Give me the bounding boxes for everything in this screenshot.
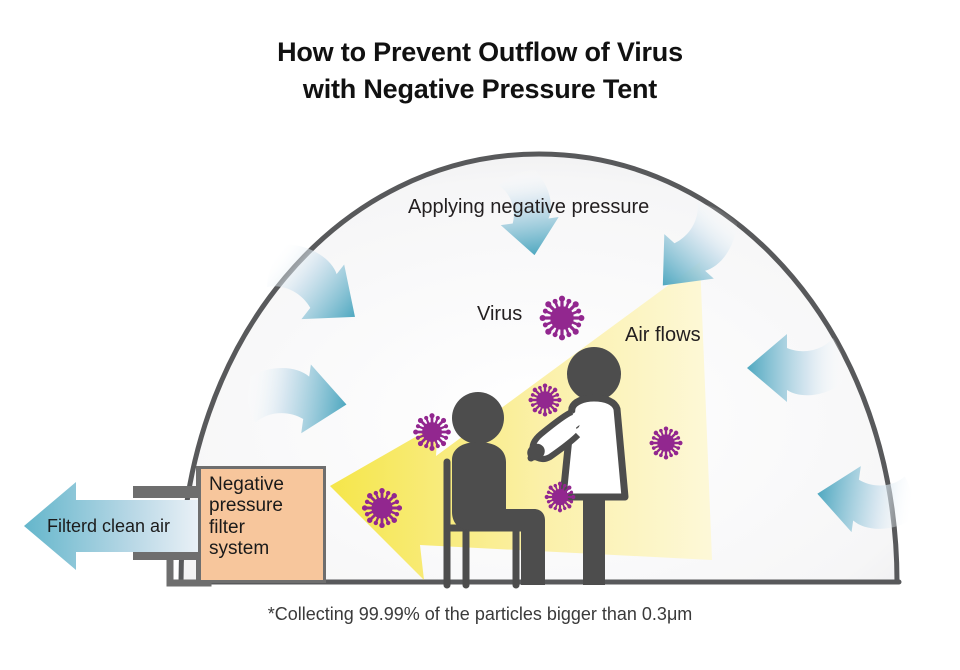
virus-icon <box>545 482 576 513</box>
negative-pressure-filter-system-box: Negative pressure filter system <box>198 466 326 583</box>
label-virus: Virus <box>477 303 522 326</box>
virus-icon <box>362 488 402 528</box>
diagram-canvas: How to Prevent Outflow of Virus with Neg… <box>0 0 960 670</box>
virus-icon <box>528 383 561 416</box>
label-filtered-clean-air: Filterd clean air <box>47 516 170 537</box>
diagram-svg <box>0 0 960 670</box>
virus-icon <box>540 296 585 341</box>
label-air-flows: Air flows <box>625 324 701 347</box>
footnote: *Collecting 99.99% of the particles bigg… <box>0 604 960 625</box>
virus-icon <box>649 426 682 459</box>
filter-box-label: Negative pressure filter system <box>209 474 323 560</box>
virus-icon <box>413 413 451 451</box>
label-applying-negative-pressure: Applying negative pressure <box>408 196 649 219</box>
